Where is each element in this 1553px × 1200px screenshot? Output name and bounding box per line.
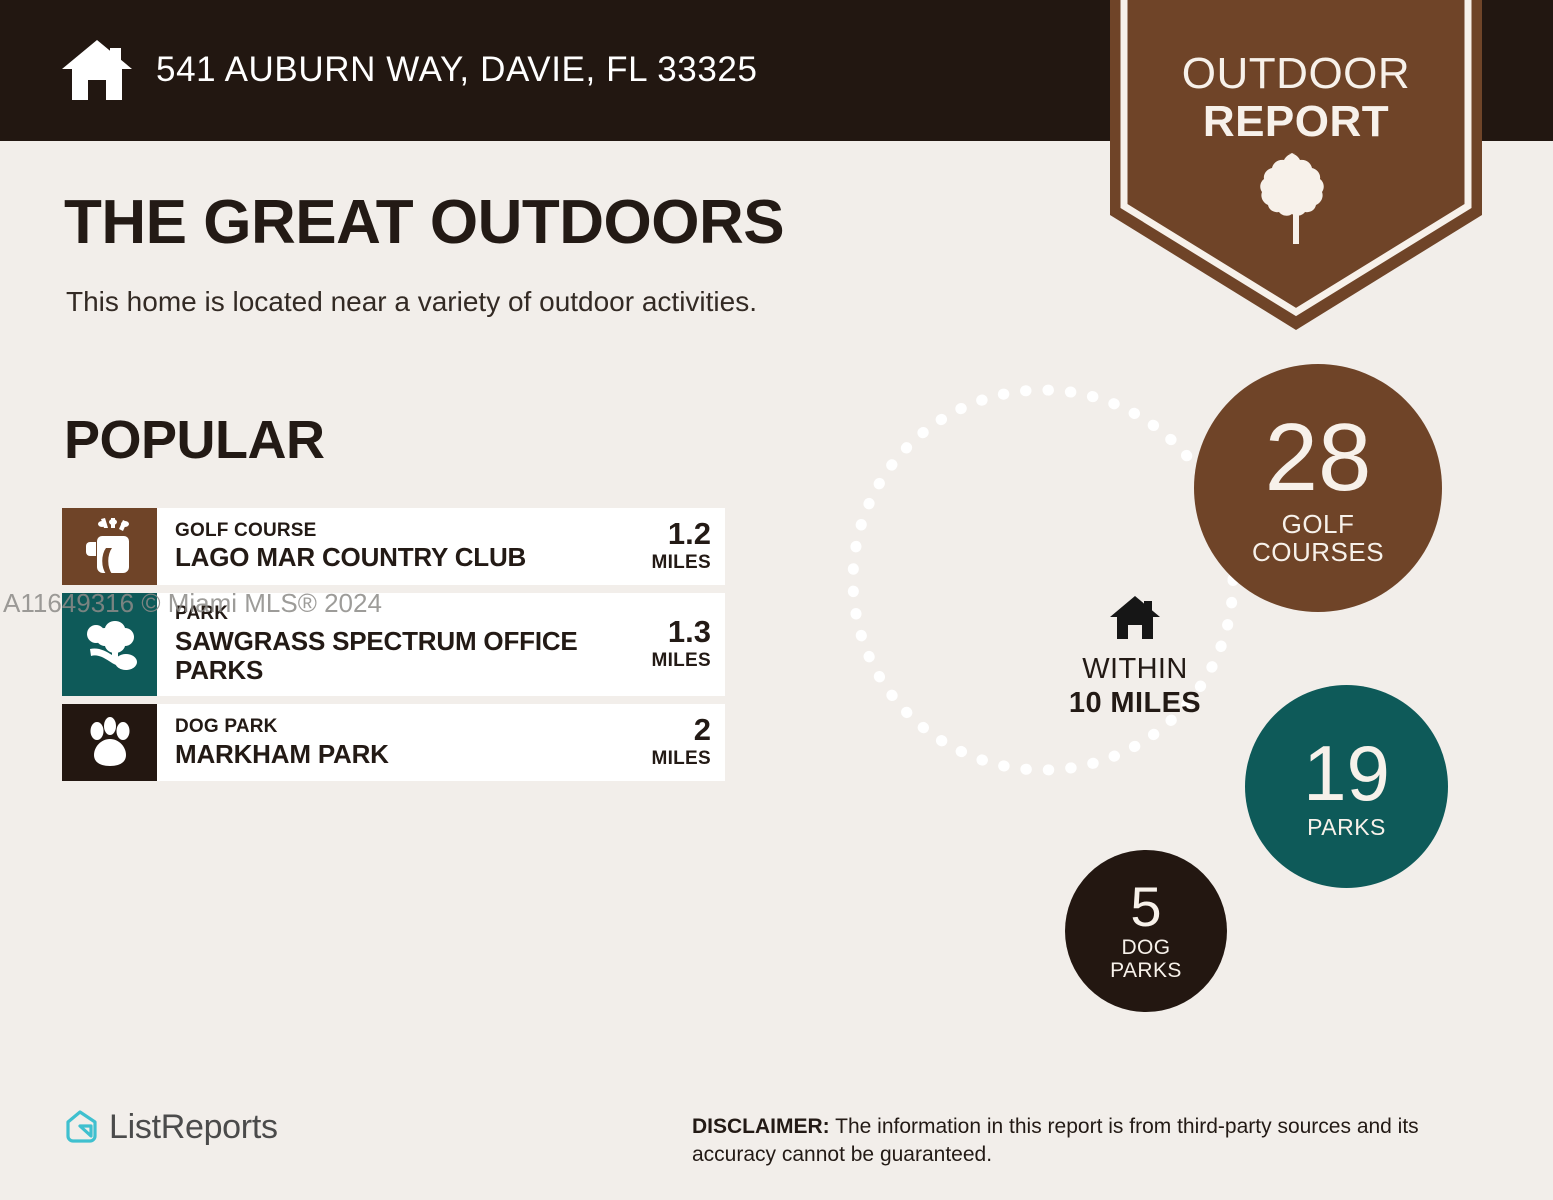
home-icon (1109, 595, 1161, 640)
distance-unit: MILES (633, 552, 711, 575)
count-label: PARKS (1307, 815, 1386, 840)
row-body: GOLF COURSE LAGO MAR COUNTRY CLUB 1.2 MI… (157, 508, 725, 585)
disclaimer: DISCLAIMER: The information in this repo… (692, 1113, 1492, 1170)
count-label: DOG PARKS (1110, 937, 1182, 982)
badge-title-line2: REPORT (1110, 100, 1482, 144)
within-radius-label: WITHIN 10 MILES (1020, 595, 1250, 721)
list-item[interactable]: DOG PARK MARKHAM PARK 2 MILES (62, 704, 725, 781)
row-distance: 2 MILES (633, 714, 711, 771)
distance-value: 1.2 (633, 518, 711, 549)
listreports-wordmark: ListReports (109, 1108, 278, 1147)
row-icon-tile (62, 508, 157, 585)
distance-value: 2 (633, 714, 711, 745)
outdoor-report-badge: OUTDOOR REPORT (1110, 0, 1482, 330)
badge-title-line1: OUTDOOR (1110, 52, 1482, 96)
count-label-line1: PARKS (1307, 815, 1386, 840)
count-label-line1: DOG (1110, 937, 1182, 960)
header-address: 541 AUBURN WAY, DAVIE, FL 33325 (156, 50, 758, 90)
count-circle-parks: 19 PARKS (1245, 685, 1448, 888)
row-body: PARK SAWGRASS SPECTRUM OFFICE PARKS 1.3 … (157, 593, 725, 697)
listreports-house-icon (62, 1109, 100, 1147)
row-category: PARK (175, 603, 623, 626)
trees-icon (82, 617, 138, 673)
row-category: DOG PARK (175, 716, 623, 739)
row-name: SAWGRASS SPECTRUM OFFICE PARKS (175, 627, 623, 687)
outdoor-report-page: 541 AUBURN WAY, DAVIE, FL 33325 OUTDOOR … (0, 0, 1553, 1200)
list-item[interactable]: GOLF COURSE LAGO MAR COUNTRY CLUB 1.2 MI… (62, 508, 725, 585)
row-category: GOLF COURSE (175, 520, 623, 543)
popular-list: GOLF COURSE LAGO MAR COUNTRY CLUB 1.2 MI… (62, 508, 725, 789)
counts-infographic: 28 GOLF COURSES 19 PARKS 5 DOG PARKS (830, 355, 1490, 1035)
popular-heading: POPULAR (64, 413, 325, 467)
row-body: DOG PARK MARKHAM PARK 2 MILES (157, 704, 725, 781)
tree-icon (1260, 150, 1332, 246)
count-value: 5 (1130, 879, 1161, 935)
golf-bag-icon (84, 518, 136, 574)
row-name: MARKHAM PARK (175, 740, 623, 770)
page-title: THE GREAT OUTDOORS (64, 192, 784, 254)
paw-print-icon (84, 717, 136, 769)
row-icon-tile (62, 704, 157, 781)
within-line1: WITHIN (1020, 654, 1250, 686)
disclaimer-label: DISCLAIMER: (692, 1115, 830, 1138)
row-distance: 1.3 MILES (633, 616, 711, 673)
row-text: DOG PARK MARKHAM PARK (175, 716, 633, 770)
distance-unit: MILES (633, 748, 711, 771)
count-value: 28 (1265, 410, 1372, 506)
within-line2: 10 MILES (1020, 686, 1250, 721)
listreports-logo[interactable]: ListReports (62, 1108, 278, 1147)
count-label-line2: PARKS (1110, 960, 1182, 983)
distance-value: 1.3 (633, 616, 711, 647)
list-item[interactable]: PARK SAWGRASS SPECTRUM OFFICE PARKS 1.3 … (62, 593, 725, 697)
count-label: GOLF COURSES (1252, 510, 1384, 566)
row-icon-tile (62, 593, 157, 697)
row-distance: 1.2 MILES (633, 518, 711, 575)
row-name: LAGO MAR COUNTRY CLUB (175, 543, 623, 573)
row-text: PARK SAWGRASS SPECTRUM OFFICE PARKS (175, 603, 633, 687)
count-circle-golf-courses: 28 GOLF COURSES (1194, 364, 1442, 612)
count-label-line1: GOLF (1252, 510, 1384, 538)
home-icon (60, 38, 134, 102)
count-circle-dog-parks: 5 DOG PARKS (1065, 850, 1227, 1012)
page-subtitle: This home is located near a variety of o… (66, 285, 757, 319)
count-label-line2: COURSES (1252, 538, 1384, 566)
distance-unit: MILES (633, 650, 711, 673)
count-value: 19 (1303, 734, 1390, 812)
row-text: GOLF COURSE LAGO MAR COUNTRY CLUB (175, 520, 633, 574)
